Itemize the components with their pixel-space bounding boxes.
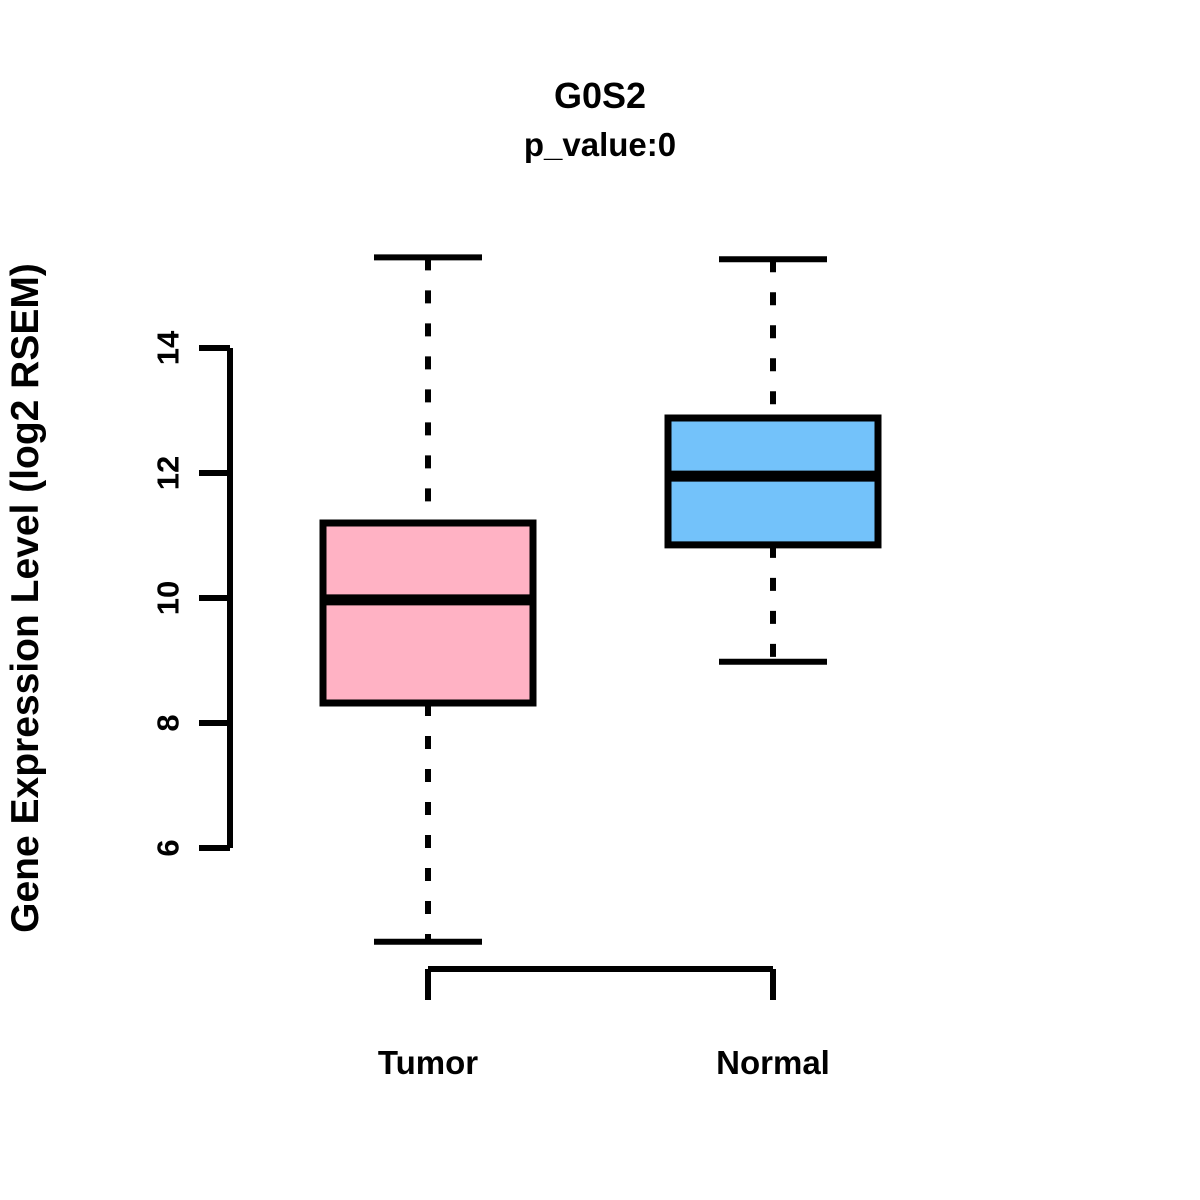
tumor-box[interactable] — [323, 523, 533, 703]
chart-title: G0S2 — [554, 75, 646, 116]
boxplot-group-tumor[interactable] — [323, 257, 533, 941]
boxplot-figure: G0S2 p_value:0 Gene Expression Level (lo… — [0, 0, 1200, 1200]
y-axis-label-6: 6 — [151, 839, 186, 856]
y-axis: 14 12 10 8 6 — [151, 330, 231, 857]
boxplot-group-normal[interactable] — [668, 259, 878, 662]
y-axis-label-10: 10 — [151, 581, 186, 615]
chart-subtitle: p_value:0 — [524, 126, 676, 163]
x-axis-label-tumor: Tumor — [378, 1044, 478, 1081]
y-axis-label-12: 12 — [151, 456, 186, 490]
x-axis-label-normal: Normal — [716, 1044, 830, 1081]
y-axis-title: Gene Expression Level (log2 RSEM) — [4, 263, 47, 933]
plot-canvas: G0S2 p_value:0 Gene Expression Level (lo… — [0, 0, 1200, 1200]
y-axis-label-14: 14 — [151, 330, 186, 365]
x-axis: Tumor Normal — [378, 969, 830, 1081]
y-axis-label-8: 8 — [151, 714, 186, 731]
